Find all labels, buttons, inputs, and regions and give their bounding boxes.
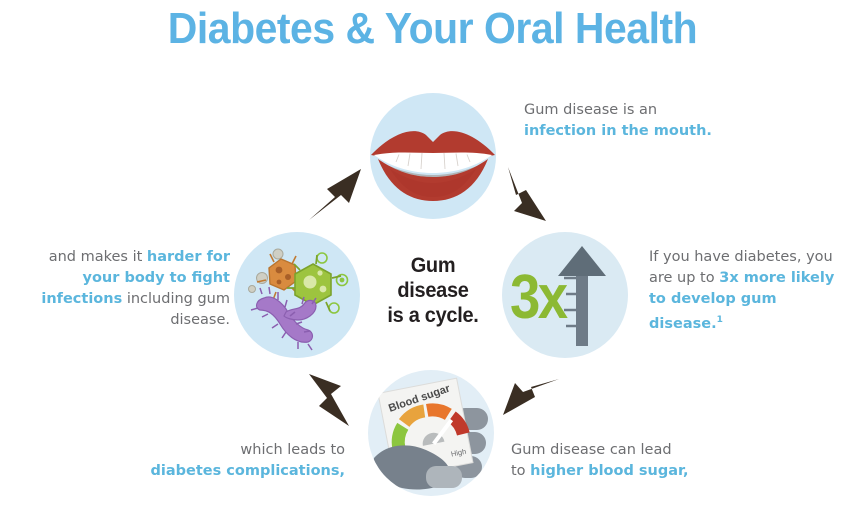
blood-sugar-meter-icon: Blood sugar Low High xyxy=(368,370,494,496)
caption-bottom-left-accent: diabetes complications, xyxy=(151,463,345,479)
mouth-teeth-icon xyxy=(370,93,496,219)
caption-right-plain-1: If you have diabetes, xyxy=(649,249,801,265)
three-x-label: 3x xyxy=(510,262,565,333)
arrow-3x-to-meter-icon xyxy=(497,375,567,433)
node-circle-3x: 3x xyxy=(502,232,628,358)
infographic-canvas: Diabetes & Your Oral Health xyxy=(0,0,865,519)
caption-bottom-left-plain: which leads to xyxy=(240,442,345,458)
caption-bottom-plain-2: to xyxy=(511,463,530,479)
caption-bottom-accent: higher blood sugar, xyxy=(530,463,688,479)
germs-bacteria-icon xyxy=(234,232,360,358)
page-title: Diabetes & Your Oral Health xyxy=(30,4,834,54)
arrow-germs-to-mouth-icon xyxy=(305,163,375,225)
node-circle-mouth xyxy=(370,93,496,219)
caption-bottom-plain-1: Gum disease can lead xyxy=(511,442,672,458)
caption-top-accent: infection in the mouth. xyxy=(524,123,712,139)
center-label-line-3: is a cycle. xyxy=(376,303,490,328)
center-label: Gum disease is a cycle. xyxy=(376,253,490,328)
node-circle-germs xyxy=(234,232,360,358)
center-label-line-1: Gum xyxy=(376,253,490,278)
caption-bottom: Gum disease can lead to higher blood sug… xyxy=(511,440,721,482)
caption-top: Gum disease is an infection in the mouth… xyxy=(524,100,734,142)
caption-left-plain-2: including gum disease. xyxy=(122,291,230,328)
arrow-meter-to-germs-icon xyxy=(297,370,367,432)
caption-bottom-left: which leads to diabetes complications, xyxy=(130,440,345,482)
center-label-line-2: disease xyxy=(376,278,490,303)
caption-left-plain-1: and makes it xyxy=(49,249,147,265)
caption-top-plain: Gum disease is an xyxy=(524,102,657,118)
node-circle-blood-sugar: Blood sugar Low High xyxy=(368,370,494,496)
caption-left: and makes it harder for your body to fig… xyxy=(40,247,230,331)
caption-right-superscript: 1 xyxy=(717,315,723,325)
caption-right: If you have diabetes, you are up to 3x m… xyxy=(649,247,854,335)
arrow-mouth-to-3x-icon xyxy=(500,163,570,225)
